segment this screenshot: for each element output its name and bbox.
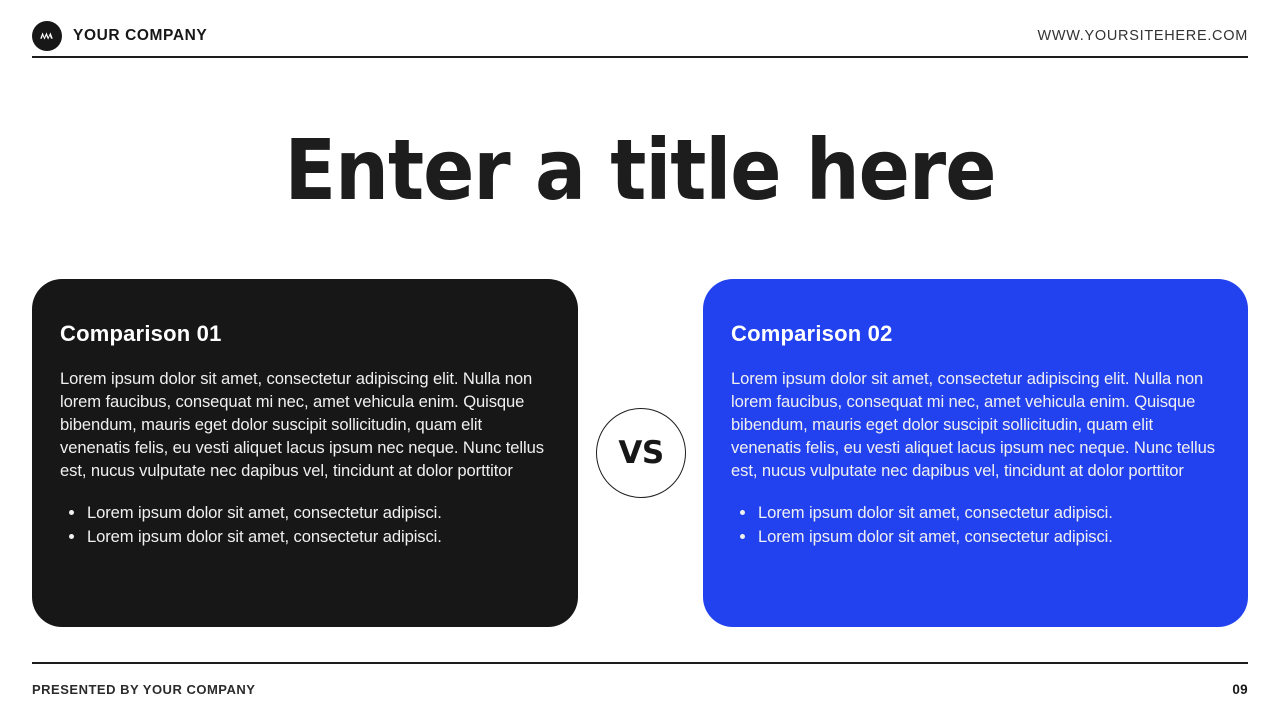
- list-item: Lorem ipsum dolor sit amet, consectetur …: [60, 501, 550, 524]
- list-item: Lorem ipsum dolor sit amet, consectetur …: [731, 501, 1220, 524]
- card-body: Lorem ipsum dolor sit amet, consectetur …: [60, 368, 550, 482]
- list-item: Lorem ipsum dolor sit amet, consectetur …: [731, 525, 1220, 548]
- slide-title: Enter a title here: [0, 128, 1280, 212]
- presented-by-text: PRESENTED BY YOUR COMPANY: [32, 682, 255, 697]
- card-bullet-list: Lorem ipsum dolor sit amet, consectetur …: [731, 501, 1220, 547]
- card-title: Comparison 02: [731, 321, 1220, 347]
- card-title: Comparison 01: [60, 321, 550, 347]
- footer-divider: [32, 662, 1248, 664]
- comparison-card-02: Comparison 02 Lorem ipsum dolor sit amet…: [703, 279, 1248, 627]
- vs-badge-label: VS: [618, 435, 663, 471]
- site-url: WWW.YOURSITEHERE.COM: [1037, 28, 1248, 44]
- slide-canvas: YOUR COMPANY WWW.YOURSITEHERE.COM Enter …: [0, 0, 1280, 720]
- vs-badge: VS: [596, 408, 686, 498]
- slide-header: YOUR COMPANY WWW.YOURSITEHERE.COM: [32, 18, 1248, 54]
- brand-lockup: YOUR COMPANY: [32, 21, 207, 51]
- company-zigzag-logo-icon: [32, 21, 62, 51]
- list-item: Lorem ipsum dolor sit amet, consectetur …: [60, 525, 550, 548]
- brand-name: YOUR COMPANY: [73, 27, 207, 45]
- card-body: Lorem ipsum dolor sit amet, consectetur …: [731, 368, 1220, 482]
- comparison-card-01: Comparison 01 Lorem ipsum dolor sit amet…: [32, 279, 578, 627]
- header-divider: [32, 56, 1248, 58]
- page-number: 09: [1232, 682, 1248, 697]
- card-bullet-list: Lorem ipsum dolor sit amet, consectetur …: [60, 501, 550, 547]
- slide-footer: PRESENTED BY YOUR COMPANY 09: [32, 676, 1248, 702]
